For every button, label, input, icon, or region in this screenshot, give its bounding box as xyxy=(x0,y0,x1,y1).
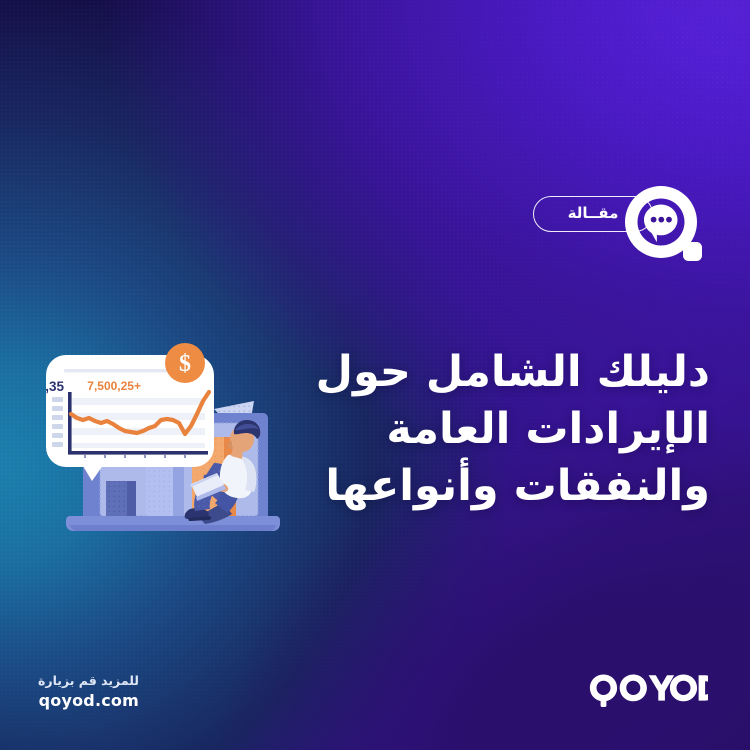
footer-cta-text: للمزيد قم بزيارة xyxy=(38,672,139,691)
headline-line-2: الإيرادات العامة xyxy=(240,401,710,458)
chat-bubble-dots-icon xyxy=(621,182,707,268)
headline-line-3: والنفقات وأنواعها xyxy=(240,458,710,515)
footer-cta: للمزيد قم بزيارة qoyod.com xyxy=(38,672,139,712)
chart-delta-value: +7,500,25 xyxy=(87,379,141,393)
footer-url[interactable]: qoyod.com xyxy=(38,691,139,712)
poster-canvas: مقــالة دليلك الشامل حول الإيرادات العام… xyxy=(0,0,750,750)
finance-dashboard-illustration: 55,247,35 +7,500,25 xyxy=(28,335,300,560)
article-badge-label: مقــالة xyxy=(568,206,619,223)
article-badge: مقــالة xyxy=(533,182,707,270)
laptop-base xyxy=(66,516,280,531)
headline-line-1: دليلك الشامل حول xyxy=(240,344,710,401)
qoyod-logo xyxy=(588,672,708,708)
chart-primary-value: 55,247,35 xyxy=(28,379,64,394)
dollar-sign-icon: $ xyxy=(179,351,191,377)
dollar-coin-badge: $ xyxy=(165,343,205,383)
headline: دليلك الشامل حول الإيرادات العامة والنفق… xyxy=(240,344,710,516)
